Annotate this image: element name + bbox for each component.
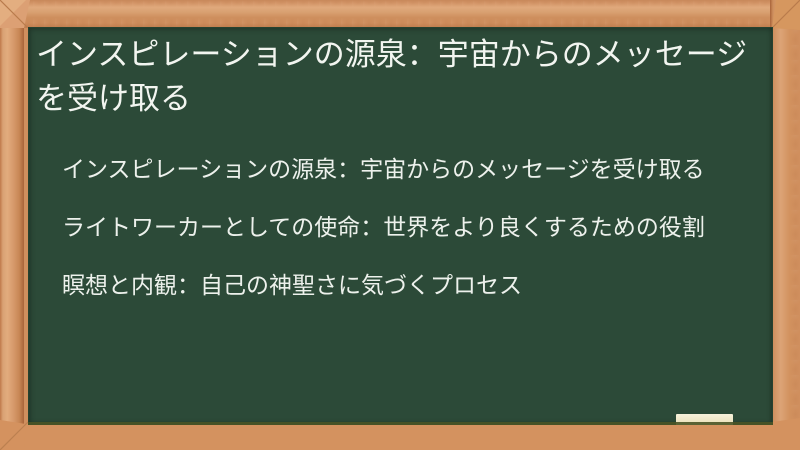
slide-title: インスピレーションの源泉：宇宙からのメッセージを受け取る: [36, 33, 752, 121]
list-item: ライトワーカーとしての使命：世界をより良くするための役割: [62, 210, 752, 246]
slide-bullet-list: インスピレーションの源泉：宇宙からのメッセージを受け取る ライトワーカーとしての…: [62, 152, 752, 326]
list-item: 瞑想と内観：自己の神聖さに気づくプロセス: [62, 268, 752, 304]
chalkboard-slide: インスピレーションの源泉：宇宙からのメッセージを受け取る インスピレーションの源…: [0, 0, 800, 450]
frame-left-rail: [0, 0, 24, 450]
list-item: インスピレーションの源泉：宇宙からのメッセージを受け取る: [62, 152, 752, 188]
frame-top-rail: [0, 0, 800, 28]
frame-right-rail: [770, 0, 800, 450]
board-ledge-line: [28, 422, 773, 425]
chalkboard-surface: インスピレーションの源泉：宇宙からのメッセージを受け取る インスピレーションの源…: [28, 27, 773, 425]
frame-bottom-rail: [0, 424, 800, 450]
